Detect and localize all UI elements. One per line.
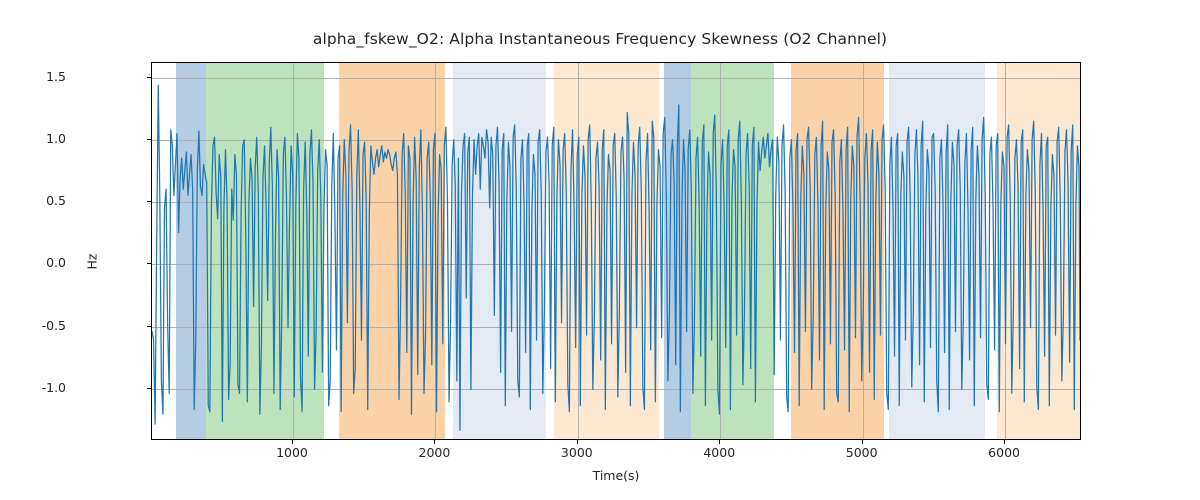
y-tick-label: -0.5 — [6, 318, 66, 333]
y-tick-mark — [147, 201, 151, 202]
y-tick-label: 0.0 — [6, 255, 66, 270]
y-tick-mark — [147, 77, 151, 78]
x-tick-label: 5000 — [822, 445, 902, 460]
x-tick-mark — [1004, 440, 1005, 444]
x-tick-mark — [292, 440, 293, 444]
y-axis-label: Hz — [84, 254, 99, 270]
y-tick-mark — [147, 388, 151, 389]
x-tick-mark — [719, 440, 720, 444]
y-tick-mark — [147, 326, 151, 327]
y-tick-mark — [147, 263, 151, 264]
x-tick-mark — [577, 440, 578, 444]
y-tick-label: 1.0 — [6, 131, 66, 146]
y-axis-label-wrap: Hz — [84, 251, 100, 270]
x-tick-mark — [862, 440, 863, 444]
x-tick-label: 2000 — [394, 445, 474, 460]
x-axis-label: Time(s) — [151, 468, 1081, 483]
plot-area — [151, 62, 1081, 440]
x-tick-mark — [434, 440, 435, 444]
signal-line — [152, 63, 1080, 439]
x-tick-label: 3000 — [537, 445, 617, 460]
y-tick-label: -1.0 — [6, 380, 66, 395]
x-tick-label: 4000 — [679, 445, 759, 460]
x-tick-label: 6000 — [964, 445, 1044, 460]
figure: alpha_fskew_O2: Alpha Instantaneous Freq… — [0, 0, 1200, 500]
chart-title: alpha_fskew_O2: Alpha Instantaneous Freq… — [0, 30, 1200, 48]
y-tick-label: 0.5 — [6, 193, 66, 208]
y-tick-label: 1.5 — [6, 69, 66, 84]
x-tick-label: 1000 — [252, 445, 332, 460]
y-tick-mark — [147, 139, 151, 140]
